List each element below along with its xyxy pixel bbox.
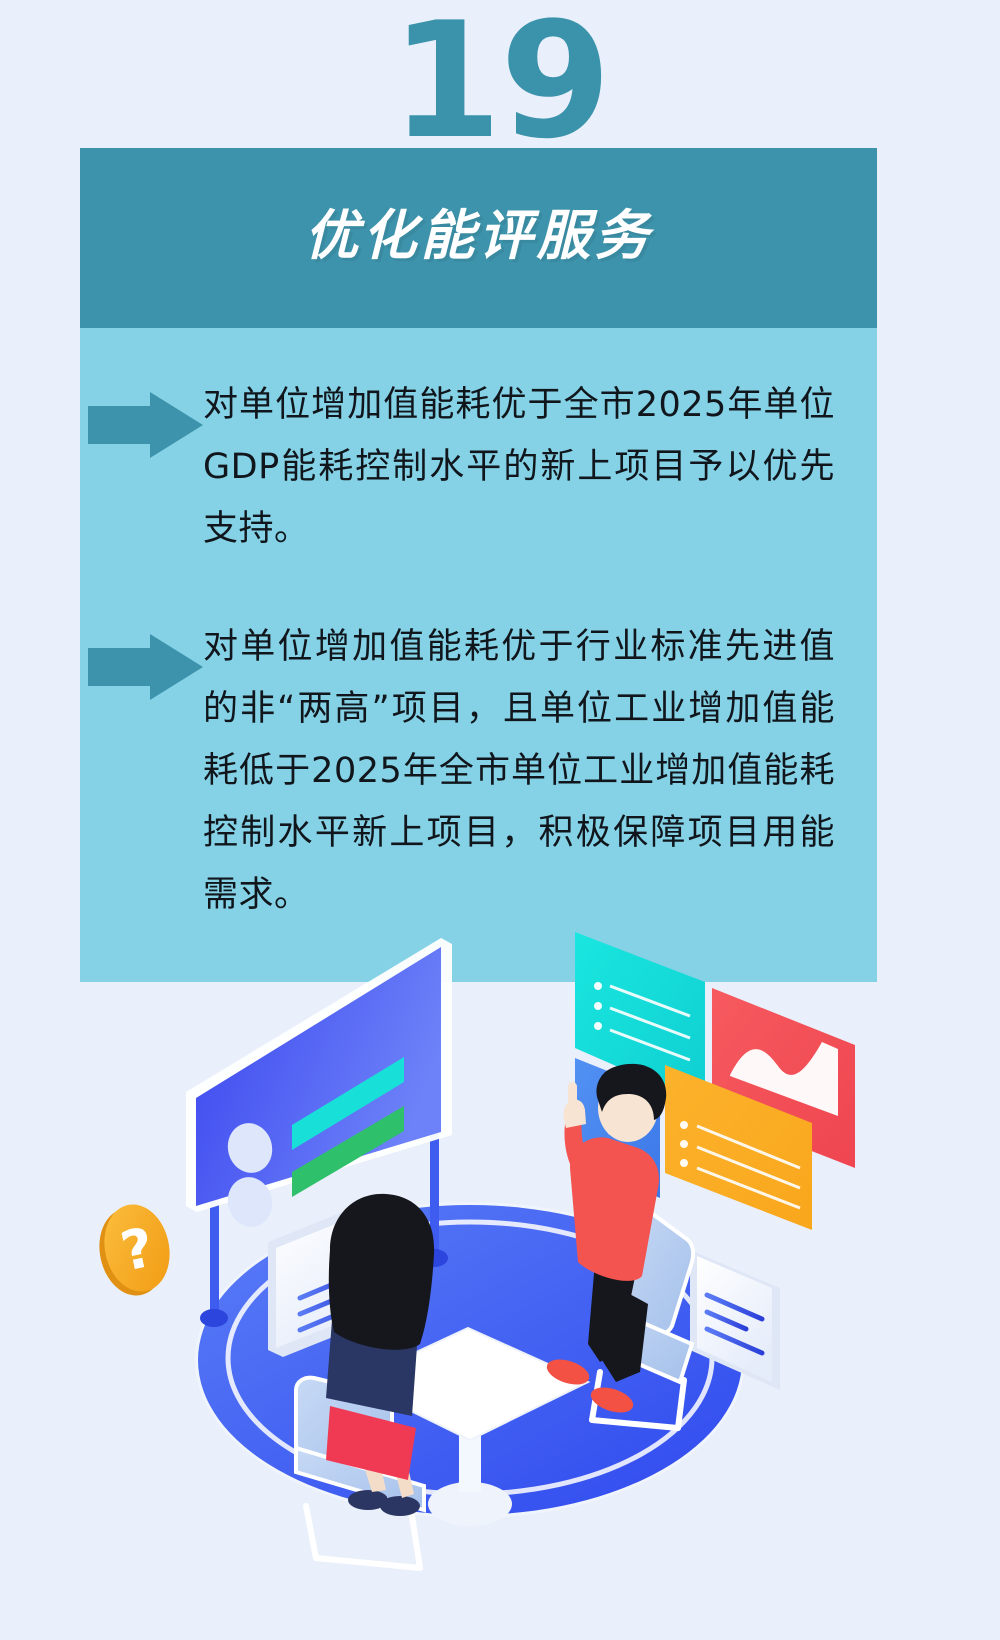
question-mark-badge: ? (92, 1198, 178, 1301)
section-number: 19 (0, 0, 1000, 166)
list-item-text: 对单位增加值能耗优于行业标准先进值的非“两高”项目，且单位工业增加值能耗低于20… (203, 616, 843, 926)
isometric-meeting-room-illustration: ? (0, 920, 1000, 1640)
arrow-right-icon (88, 392, 203, 458)
arrow-right-icon (88, 634, 203, 700)
card-body: 对单位增加值能耗优于全市2025年单位GDP能耗控制水平的新上项目予以优先支持。… (80, 328, 877, 982)
list-item: 对单位增加值能耗优于行业标准先进值的非“两高”项目，且单位工业增加值能耗低于20… (80, 616, 877, 926)
card-header: 优化能评服务 (80, 148, 877, 328)
content-card: 优化能评服务 对单位增加值能耗优于全市2025年单位GDP能耗控制水平的新上项目… (80, 148, 877, 982)
list-item: 对单位增加值能耗优于全市2025年单位GDP能耗控制水平的新上项目予以优先支持。 (80, 374, 877, 560)
page-title: 优化能评服务 (80, 204, 877, 268)
list-item-text: 对单位增加值能耗优于全市2025年单位GDP能耗控制水平的新上项目予以优先支持。 (203, 374, 843, 560)
